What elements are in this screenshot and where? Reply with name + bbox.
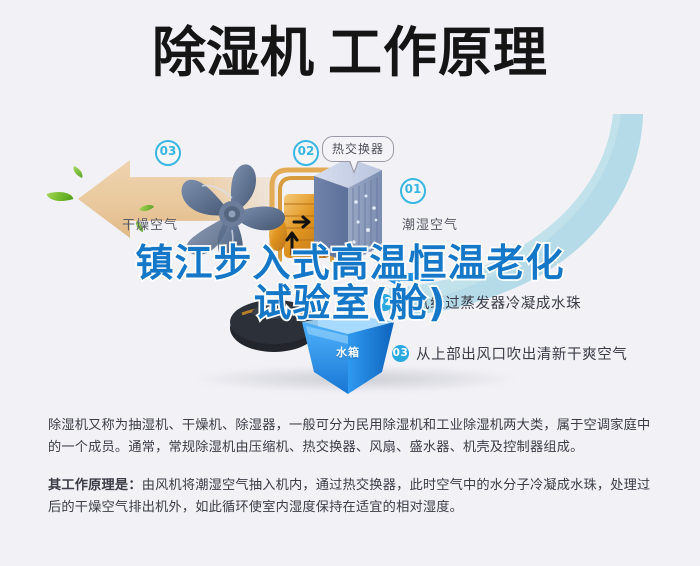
caption-line-03: 03 从上部出风口吹出清新干爽空气: [392, 343, 627, 364]
body-paragraph-2-lead: 其工作原理是：: [48, 478, 142, 493]
leaf-icon: [47, 187, 74, 207]
caption-text-03: 从上部出风口吹出清新干爽空气: [416, 343, 627, 364]
diagram-badge-01: 01: [400, 178, 426, 204]
caption-badge-03: 03: [392, 345, 409, 362]
caption-badge-02: 02: [376, 294, 393, 311]
diagram-badge-03: 03: [155, 140, 181, 166]
page-title-text: 除湿机工作原理: [152, 26, 548, 80]
fan-blade-icon: [172, 158, 292, 268]
leaf-icon: [71, 166, 85, 178]
page-title-part1: 除湿机: [152, 21, 314, 84]
page-title-part2: 工作原理: [328, 21, 548, 84]
dry-air-label: 干燥空气: [122, 214, 178, 233]
heat-exchanger-callout: 热交换器: [322, 136, 394, 162]
body-paragraph-1: 除湿机又称为抽湿机、干燥机、除湿器，一般可分为民用除湿机和工业除湿机两大类，属于…: [48, 415, 658, 459]
caption-text-02: 空气经过蒸发器冷凝成水珠: [400, 292, 581, 313]
diagram-badge-02: 02: [293, 140, 319, 166]
body-paragraph-2: 其工作原理是：由风机将潮湿空气抽入机内，通过热交换器，此时空气中的水分子冷凝成水…: [48, 475, 658, 519]
body-text-block: 除湿机又称为抽湿机、干燥机、除湿器，一般可分为民用除湿机和工业除湿机两大类，属于…: [48, 415, 658, 519]
heat-exchanger-fin-icon: [308, 150, 386, 270]
page-title: 除湿机工作原理: [0, 26, 700, 80]
infographic-page: 除湿机工作原理: [0, 0, 700, 566]
humid-air-label: 潮湿空气: [402, 214, 458, 233]
caption-line-02: 02 空气经过蒸发器冷凝成水珠: [376, 292, 581, 313]
air-inflow-arrow-icon: [380, 266, 434, 288]
water-tank-label: 水箱: [316, 344, 380, 360]
